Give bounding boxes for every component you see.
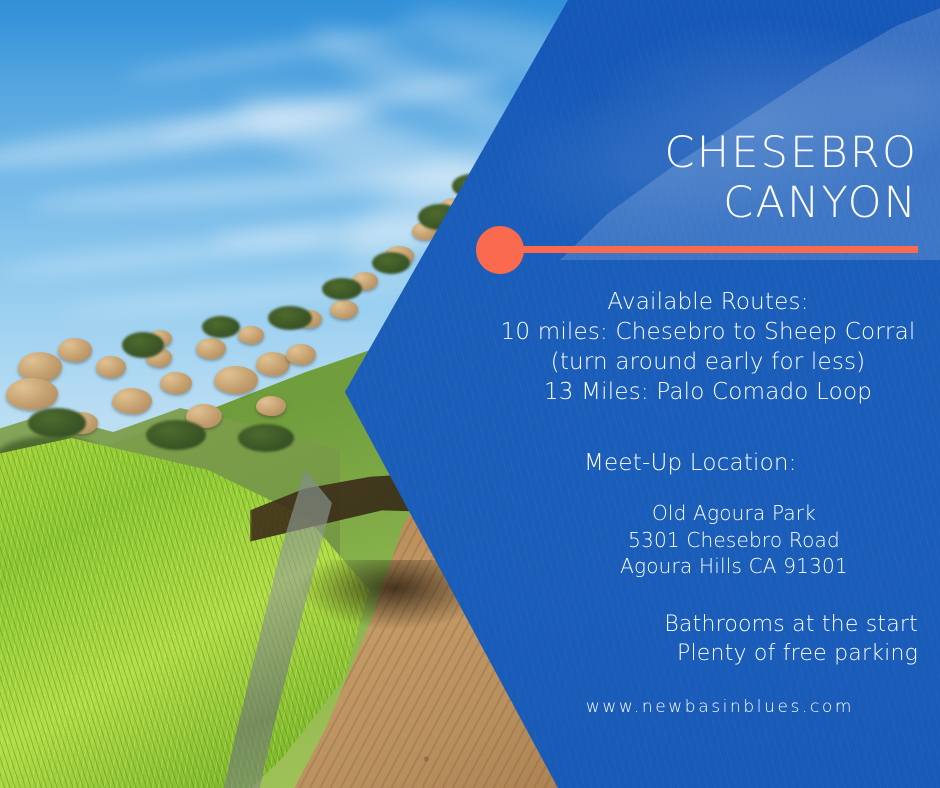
page-title: CHESEBRO CANYON: [518, 128, 918, 229]
boulder: [286, 344, 316, 365]
shrub: [268, 306, 312, 330]
boulder: [256, 396, 286, 416]
title-line-1: CHESEBRO: [518, 128, 918, 178]
boulder: [196, 338, 226, 359]
accent-divider: [476, 226, 940, 274]
title-line-2: CANYON: [518, 178, 918, 228]
route-option-1: 10 miles: Chesebro to Sheep Corral: [498, 318, 918, 348]
shrub: [372, 252, 410, 274]
boulder: [96, 356, 126, 378]
shrub: [28, 408, 86, 438]
accent-dot-icon: [476, 226, 524, 274]
route-option-1-note: (turn around early for less): [498, 348, 918, 378]
address-line-1: Old Agoura Park: [584, 500, 884, 527]
routes-heading: Available Routes:: [498, 288, 918, 318]
shrub: [122, 332, 164, 358]
route-option-2: 13 Miles: Palo Comado Loop: [498, 378, 918, 408]
accent-rule-line: [520, 246, 918, 253]
address-line-3: Agoura Hills CA 91301: [584, 553, 884, 580]
shrub: [322, 278, 362, 300]
address-line-2: 5301 Chesebro Road: [584, 527, 884, 554]
poster-content: CHESEBRO CANYON Available Routes: 10 mil…: [500, 0, 940, 788]
amenities-block: Bathrooms at the start Plenty of free pa…: [498, 610, 918, 669]
boulder: [238, 326, 264, 344]
shrub: [238, 424, 294, 452]
boulder: [256, 352, 290, 376]
boulder: [330, 300, 358, 319]
website-url[interactable]: www.newbasinblues.com: [575, 697, 865, 717]
meet-up-heading: Meet-Up Location:: [584, 450, 797, 476]
shrub: [146, 420, 206, 450]
poster: CHESEBRO CANYON Available Routes: 10 mil…: [0, 0, 940, 788]
boulder: [58, 338, 92, 362]
amenity-bathrooms: Bathrooms at the start: [498, 610, 918, 639]
boulder: [160, 372, 192, 394]
amenity-parking: Plenty of free parking: [498, 639, 918, 668]
boulder: [6, 378, 58, 410]
available-routes-block: Available Routes: 10 miles: Chesebro to …: [498, 288, 918, 408]
shrub: [202, 316, 240, 338]
meet-up-address: Old Agoura Park 5301 Chesebro Road Agour…: [584, 500, 884, 580]
boulder: [214, 366, 258, 394]
boulder: [112, 388, 152, 414]
